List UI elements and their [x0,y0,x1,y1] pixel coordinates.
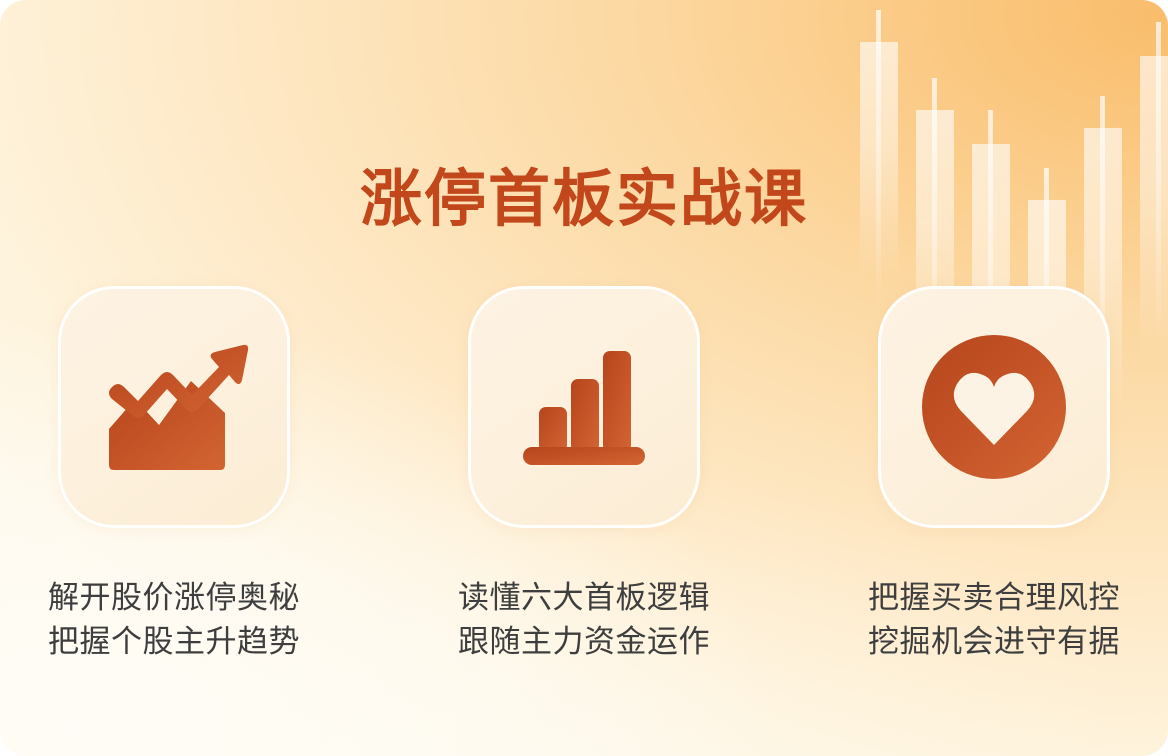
icon-card-heart-circle [878,286,1110,528]
page-title: 涨停首板实战课 [0,166,1168,234]
feature-caption-3: 把握买卖合理风控 挖掘机会进守有据 [868,576,1120,664]
candle-1 [860,10,898,310]
caption-line: 读懂六大首板逻辑 [458,576,710,620]
heart-circle-icon [919,332,1069,482]
bar-chart-icon [509,337,659,477]
caption-line: 挖掘机会进守有据 [868,620,1120,664]
feature-list: 解开股价涨停奥秘 把握个股主升趋势 [58,286,1110,686]
feature-item-3: 把握买卖合理风控 挖掘机会进守有据 [878,286,1110,664]
caption-line: 把握个股主升趋势 [48,620,300,664]
icon-card-bar-chart [468,286,700,528]
feature-item-1: 解开股价涨停奥秘 把握个股主升趋势 [58,286,290,664]
caption-line: 解开股价涨停奥秘 [48,576,300,620]
trending-up-area-chart-icon [99,337,249,477]
feature-caption-2: 读懂六大首板逻辑 跟随主力资金运作 [458,576,710,664]
course-promo-banner: 涨停首板实战课 解开股价涨停奥秘 把握个股主升趋势 [0,0,1168,756]
caption-line: 把握买卖合理风控 [868,576,1120,620]
icon-card-trending-up [58,286,290,528]
caption-line: 跟随主力资金运作 [458,620,710,664]
feature-item-2: 读懂六大首板逻辑 跟随主力资金运作 [468,286,700,664]
feature-caption-1: 解开股价涨停奥秘 把握个股主升趋势 [48,576,300,664]
